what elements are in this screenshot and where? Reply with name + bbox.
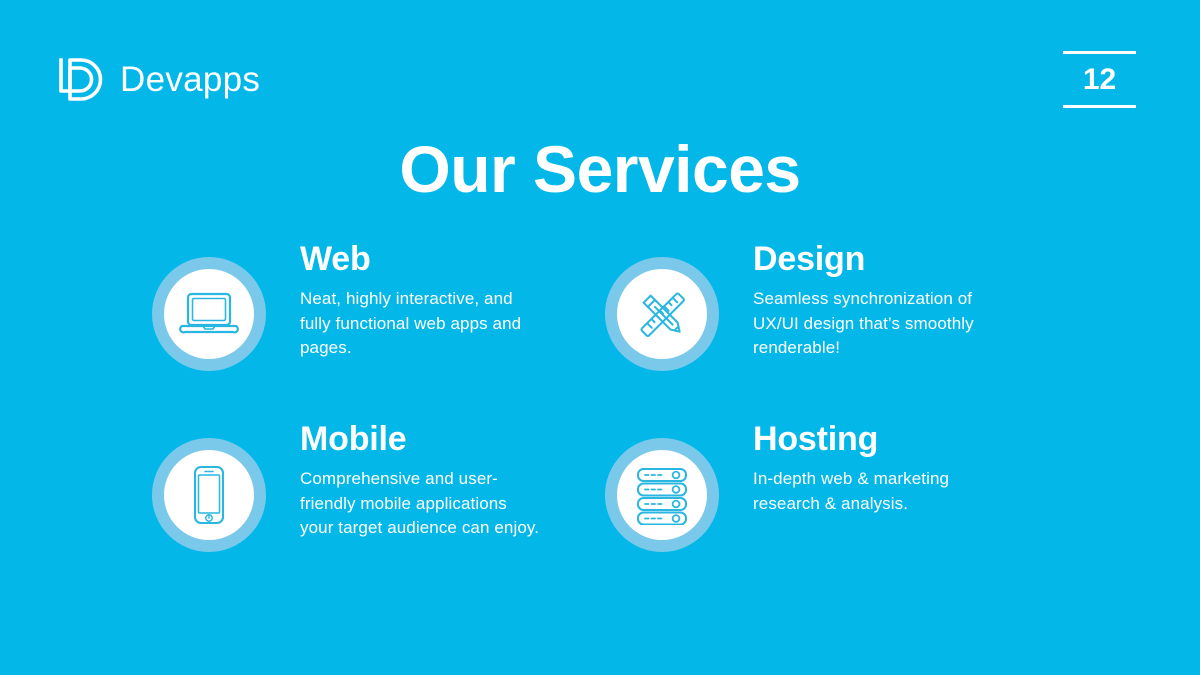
service-text-web: Web Neat, highly interactive, and fully … [300,240,540,361]
service-card-hosting[interactable]: Hosting In-depth web & marketing researc… [605,420,1065,600]
server-rack-icon [605,438,719,552]
page-title: Our Services [0,133,1200,206]
page-number-value: 12 [1063,54,1136,105]
service-text-mobile: Mobile Comprehensive and user-friendly m… [300,420,540,541]
service-body-design: Seamless synchronization of UX/UI design… [753,287,993,361]
service-text-design: Design Seamless synchronization of UX/UI… [753,240,993,361]
service-title-design: Design [753,240,993,279]
service-card-web[interactable]: Web Neat, highly interactive, and fully … [145,240,605,420]
service-text-hosting: Hosting In-depth web & marketing researc… [753,420,993,516]
service-body-mobile: Comprehensive and user-friendly mobile a… [300,467,540,541]
service-card-design[interactable]: Design Seamless synchronization of UX/UI… [605,240,1065,420]
page-number-badge: 12 [1063,51,1136,108]
ruler-pencil-icon [605,257,719,371]
laptop-icon [152,257,266,371]
service-body-web: Neat, highly interactive, and fully func… [300,287,540,361]
devapps-d-logo-icon [50,52,105,107]
services-grid: Web Neat, highly interactive, and fully … [145,240,1065,600]
slide-header: Devapps 12 [0,0,1200,135]
service-card-mobile[interactable]: Mobile Comprehensive and user-friendly m… [145,420,605,600]
services-row-1: Web Neat, highly interactive, and fully … [145,240,1065,420]
services-row-2: Mobile Comprehensive and user-friendly m… [145,420,1065,600]
smartphone-icon [152,438,266,552]
service-title-web: Web [300,240,540,279]
slide-root: Devapps 12 Our Services [0,0,1200,675]
service-title-hosting: Hosting [753,420,993,459]
service-body-hosting: In-depth web & marketing research & anal… [753,467,993,516]
brand-logo: Devapps [50,52,260,107]
service-title-mobile: Mobile [300,420,540,459]
brand-name: Devapps [120,62,260,97]
page-number-rule-bottom [1063,105,1136,108]
